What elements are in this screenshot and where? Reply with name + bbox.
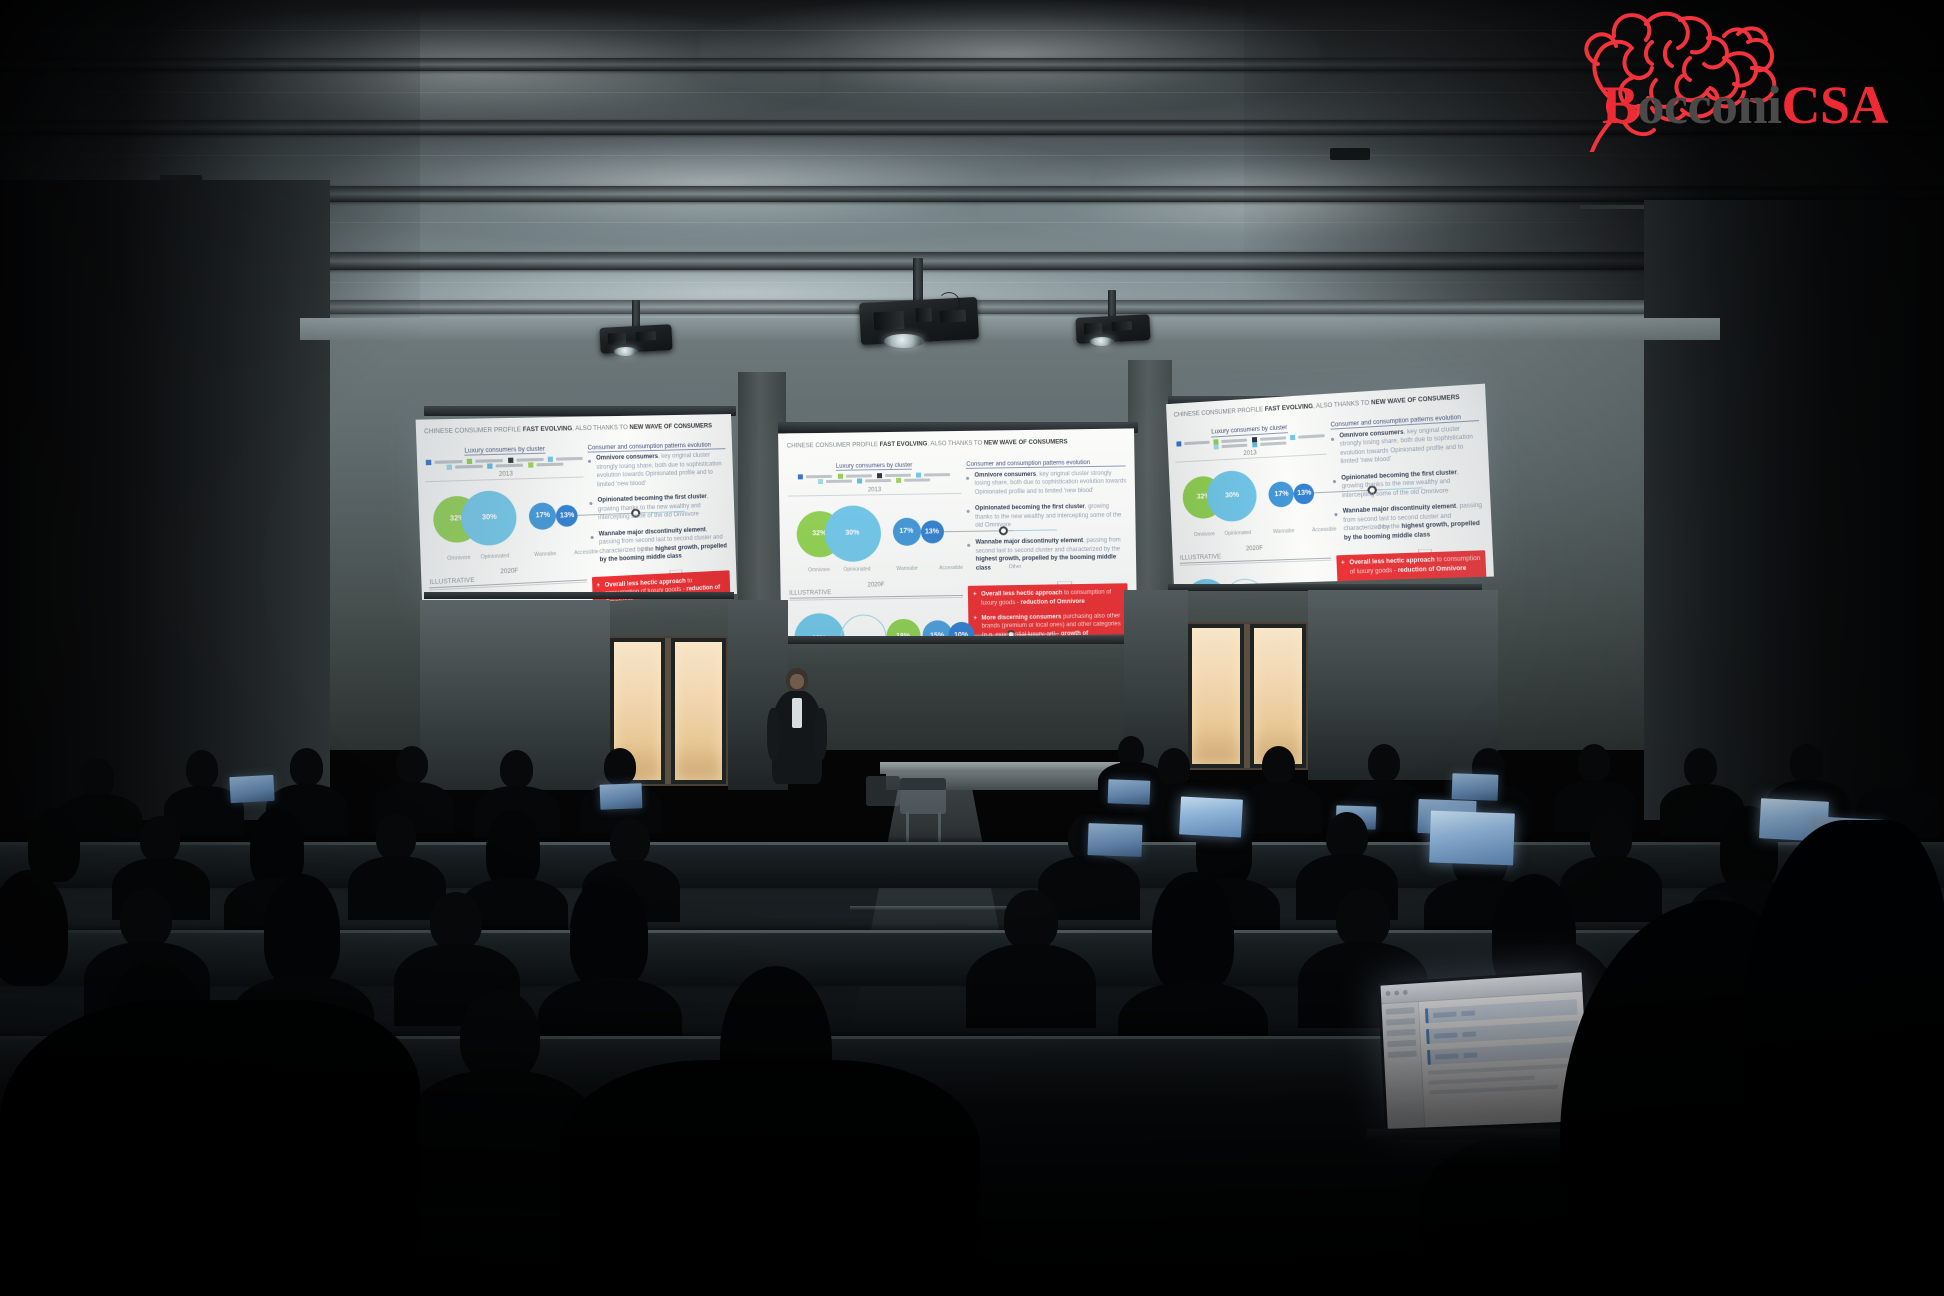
presenter-arm (814, 708, 827, 760)
audience-head (396, 746, 428, 783)
projector-lens-center (884, 334, 924, 348)
ceiling-light-glow-2 (700, 0, 1320, 110)
legend-swatch-icon (1252, 442, 1257, 447)
legend-item (446, 463, 483, 469)
bubble-row-2013: 32% 30% 17% 13% (1176, 461, 1330, 531)
audience-head (290, 748, 323, 786)
audience-head (1262, 746, 1295, 784)
projector-lens-right (1090, 337, 1114, 346)
bubble-chart-2020: 2020F ILLUSTRATIVE 28% 18% 15% 10% (789, 581, 964, 640)
callout-item: Overall less hectic approach to consumpt… (1341, 555, 1481, 577)
audience-head (1336, 888, 1390, 948)
screen-surface-left: CHINESE CONSUMER PROFILE FAST EVOLVING, … (416, 414, 737, 611)
slide-center: CHINESE CONSUMER PROFILE FAST EVOLVING, … (778, 428, 1137, 640)
bullet-item: Wannabe major discontinuity element, pas… (590, 525, 728, 566)
red-callout-box: Overall less hectic approach to consumpt… (968, 583, 1129, 640)
audience-head (264, 874, 340, 986)
bullet-list: Omnivore consumers, key original cluster… (1331, 424, 1484, 551)
slide-body: Luxury consumers by cluster 2013 (1174, 413, 1490, 585)
legend-swatch-icon (1214, 444, 1219, 449)
right-wall (1644, 200, 1944, 820)
projection-screen-left[interactable]: CHINESE CONSUMER PROFILE FAST EVOLVING, … (416, 414, 737, 611)
projector-lens-left (614, 347, 638, 356)
chart-legend (787, 472, 961, 485)
wall-cornice (300, 318, 1720, 340)
legend-item (528, 461, 563, 467)
door-leaf[interactable] (1254, 628, 1302, 764)
foreground-silhouette (560, 1060, 980, 1296)
legend-swatch-icon (528, 462, 533, 467)
bubble-wannabe: 17% (1268, 481, 1294, 508)
chart-heading: Luxury consumers by cluster (464, 446, 545, 456)
bubble-opinionated: 30% (1206, 470, 1258, 523)
foreground-silhouette (1740, 820, 1944, 1296)
callout-item: Overall less hectic approach to consumpt… (973, 589, 1123, 608)
bubble-chart-2013: 2013 32% 30% 17% 13% (788, 486, 963, 580)
laptop-screen[interactable] (1087, 823, 1142, 857)
ceiling-fixture (1330, 148, 1370, 160)
slide-left: CHINESE CONSUMER PROFILE FAST EVOLVING, … (416, 414, 737, 611)
screen-bar-center (778, 636, 1136, 644)
audience-head (604, 748, 636, 785)
bullet-item: Opinionated becoming the first cluster, … (1333, 467, 1482, 501)
audience-head (570, 876, 648, 988)
slide-divider (787, 454, 1126, 459)
projector-vent (873, 311, 904, 331)
window-dot-icon (1386, 991, 1391, 996)
slide-body: Luxury consumers by cluster 2013 (425, 442, 734, 611)
bullet-list: Omnivore consumers, key original cluster… (966, 469, 1127, 581)
bubble-chart-2013: 2013 32% 30% 17% 13% (426, 469, 587, 569)
legend-item (1214, 443, 1248, 450)
laptop-list-item (1426, 1020, 1579, 1044)
slide-column-text: Consumer and consumption patterns evolut… (587, 442, 733, 611)
projector-vent (915, 307, 932, 322)
bubble-accessible: 13% (556, 504, 578, 527)
bubble-chart-2020: 2020F ILLUSTRATIVE 28% 18% 15% 10% (1180, 543, 1337, 586)
audience-head (1152, 872, 1234, 992)
brand-letters-occoni: occoni (1638, 75, 1782, 135)
legend-item (1252, 440, 1286, 447)
projector-cable (938, 292, 960, 314)
wall-segment (1308, 590, 1498, 780)
slide-column-chart: Luxury consumers by cluster 2013 (1174, 423, 1337, 586)
legend-swatch-icon (425, 459, 431, 464)
left-wall (0, 180, 330, 820)
legend-item (857, 478, 891, 484)
laptop-screen[interactable] (229, 775, 274, 803)
window-dot-icon (1394, 991, 1399, 996)
brand-letter-b: B (1602, 75, 1638, 135)
projection-screen-center[interactable]: CHINESE CONSUMER PROFILE FAST EVOLVING, … (778, 428, 1137, 640)
screen-surface-right: CHINESE CONSUMER PROFILE FAST EVOLVING, … (1166, 384, 1494, 586)
door-right[interactable] (1186, 622, 1308, 770)
legend-item (1290, 433, 1325, 440)
laptop-screen[interactable] (1179, 796, 1243, 837)
laptop-screen[interactable] (1429, 811, 1515, 866)
audience-head (1880, 750, 1913, 788)
bullet-item: Omnivore consumers, key original cluster… (1331, 424, 1480, 468)
door-leaf[interactable] (675, 642, 722, 780)
audience-head (120, 888, 172, 948)
bubble-row-2013: 32% 30% 17% 13% (788, 501, 963, 566)
bubble-opinionated: 30% (824, 505, 881, 562)
legend-swatch-icon (818, 479, 823, 484)
audience-head (500, 750, 533, 788)
bullet-item: Omnivore consumers, key original cluster… (588, 452, 726, 491)
audience-shoulders (1238, 782, 1322, 834)
legend-swatch-icon (897, 478, 902, 483)
text-heading: Consumer and consumption patterns evolut… (966, 459, 1126, 469)
chart-heading: Luxury consumers by cluster (836, 462, 913, 471)
audience-head (610, 818, 650, 864)
legend-swatch-icon (488, 463, 493, 468)
legend-swatch-icon (857, 479, 862, 484)
legend-swatch-icon (1290, 435, 1295, 440)
audience-shoulders (1560, 856, 1662, 922)
bubble-accessible: 13% (1294, 483, 1315, 504)
laptop-screen[interactable] (600, 783, 643, 809)
foreground-laptop-screen[interactable] (1378, 969, 1593, 1132)
door-leaf[interactable] (1192, 628, 1240, 764)
bubble-chart-2013: 2013 32% 30% 17% 13% (1175, 446, 1330, 544)
screen-bar-left (424, 592, 734, 599)
laptop-list-item (1425, 999, 1578, 1023)
audience-head (1578, 744, 1610, 782)
bubble-wannabe: 17% (529, 502, 557, 530)
audience-head (1326, 812, 1368, 860)
foreground-silhouette (0, 1000, 420, 1296)
laptop-list-item (1427, 1042, 1580, 1065)
audience-head (186, 750, 218, 788)
projector-vent (608, 333, 627, 345)
slide-column-chart: Luxury consumers by cluster 2013 (787, 461, 964, 639)
bubble-opinionated: 30% (461, 489, 518, 546)
slide-column-text: Consumer and consumption patterns evolut… (966, 459, 1129, 640)
legend-item (488, 462, 524, 468)
slide-column-text: Consumer and consumption patterns evolut… (1330, 413, 1490, 585)
bubble-wannabe: 17% (892, 517, 920, 545)
bullet-item: Opinionated becoming the first cluster, … (967, 503, 1127, 531)
slide-right: CHINESE CONSUMER PROFILE FAST EVOLVING, … (1166, 384, 1494, 586)
audience-head (430, 892, 482, 950)
legend-item (818, 479, 852, 485)
legend-item (1176, 440, 1209, 447)
presenter-arm (767, 708, 780, 760)
legend-swatch-icon (446, 464, 452, 469)
audience-head (80, 758, 114, 798)
laptop-app-sidebar (1381, 1002, 1425, 1129)
bubble-row-2020: 28% 18% 15% 10% (789, 605, 964, 640)
chart-legend (425, 455, 583, 470)
bullet-item: Opinionated becoming the first cluster, … (589, 493, 727, 524)
audience-head (460, 990, 540, 1082)
lecture-hall-photo: CHINESE CONSUMER PROFILE FAST EVOLVING, … (0, 0, 1944, 1296)
window-dot-icon (1403, 990, 1408, 995)
bullet-item: Wannabe major discontinuity element, pas… (967, 536, 1127, 573)
presenter-face (790, 674, 804, 689)
chair (866, 776, 900, 806)
bullet-item: Omnivore consumers, key original cluster… (966, 469, 1126, 497)
audience-shoulders (966, 944, 1096, 1028)
brand-logo: BocconiCSA (1552, 2, 1944, 152)
screen-surface-center: CHINESE CONSUMER PROFILE FAST EVOLVING, … (778, 428, 1137, 640)
brand-letters-csa: CSA (1782, 75, 1889, 135)
ceiling-light-glow-3 (330, 130, 1090, 240)
audience-head (1590, 814, 1632, 862)
bullet-list: Omnivore consumers, key original cluster… (588, 452, 729, 573)
projection-screen-right[interactable]: CHINESE CONSUMER PROFILE FAST EVOLVING, … (1166, 384, 1494, 586)
bullet-item: Wannabe major discontinuity element, pas… (1334, 502, 1484, 543)
projector-vent (1112, 321, 1132, 331)
projector-vent (636, 331, 656, 341)
presenter (766, 668, 826, 784)
audience-head (1004, 890, 1058, 950)
projector-vent (1084, 323, 1103, 335)
presenter-shirt (792, 698, 802, 728)
bubble-row-2013: 32% 30% 17% 13% (426, 483, 586, 554)
slide-title: CHINESE CONSUMER PROFILE FAST EVOLVING, … (424, 422, 724, 436)
audience-head (1368, 744, 1400, 782)
legend-swatch-icon (798, 474, 803, 479)
audience-head (1790, 744, 1823, 782)
aisle-step (850, 906, 1022, 910)
slide-column-chart: Luxury consumers by cluster 2013 (425, 445, 592, 611)
legend-swatch-icon (1176, 441, 1181, 446)
legend-item (897, 478, 931, 484)
audience-head (376, 814, 416, 860)
laptop-screen[interactable] (1108, 779, 1151, 804)
audience-head (1684, 748, 1717, 786)
audience-head (1158, 748, 1190, 786)
brand-wordmark: BocconiCSA (1602, 74, 1888, 136)
laptop-screen[interactable] (1452, 773, 1499, 801)
slide-title: CHINESE CONSUMER PROFILE FAST EVOLVING, … (787, 438, 1126, 451)
audience-head (140, 816, 180, 862)
slide-body: Luxury consumers by cluster 2013 (787, 459, 1130, 640)
bubble-accessible: 13% (920, 520, 943, 543)
audience-head (486, 810, 540, 888)
